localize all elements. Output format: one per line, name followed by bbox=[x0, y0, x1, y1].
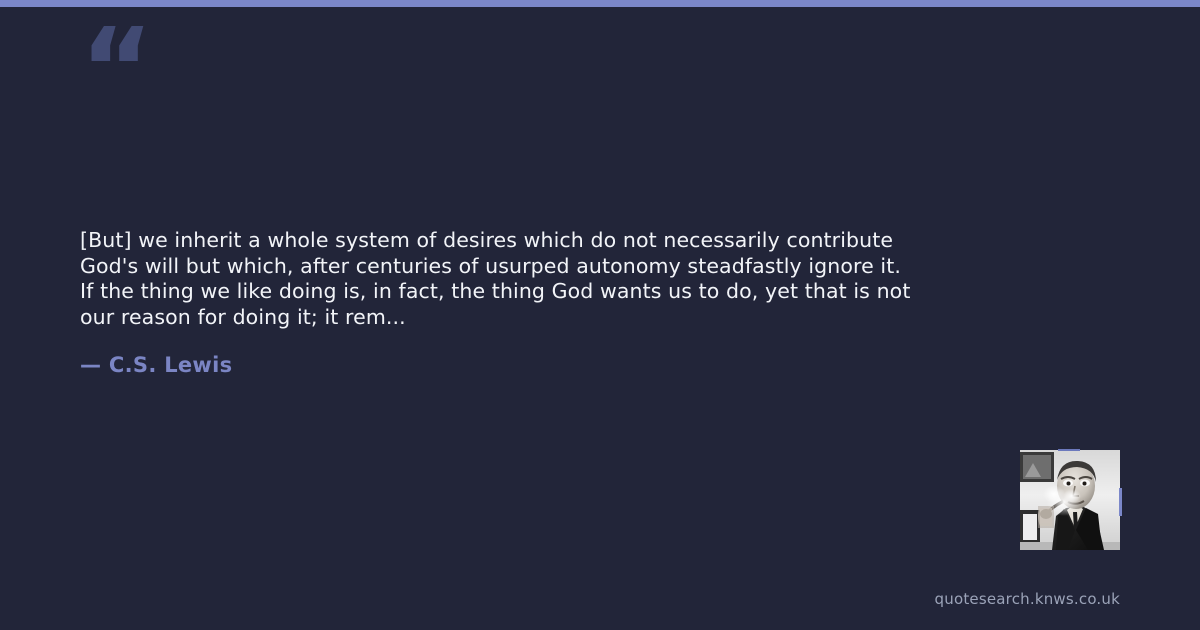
source-url: quotesearch.knws.co.uk bbox=[935, 590, 1120, 608]
author-portrait bbox=[1020, 450, 1120, 550]
author-portrait-image bbox=[1020, 450, 1120, 550]
quote-text: [But] we inherit a whole system of desir… bbox=[80, 228, 1080, 330]
portrait-accent-edge bbox=[1119, 488, 1122, 516]
portrait-accent-top bbox=[1058, 449, 1080, 451]
quote-attribution: — C.S. Lewis bbox=[80, 353, 232, 377]
top-accent-bar bbox=[0, 0, 1200, 7]
open-quote-icon: “ bbox=[80, 14, 152, 126]
quote-card: “ [But] we inherit a whole system of des… bbox=[0, 0, 1200, 630]
